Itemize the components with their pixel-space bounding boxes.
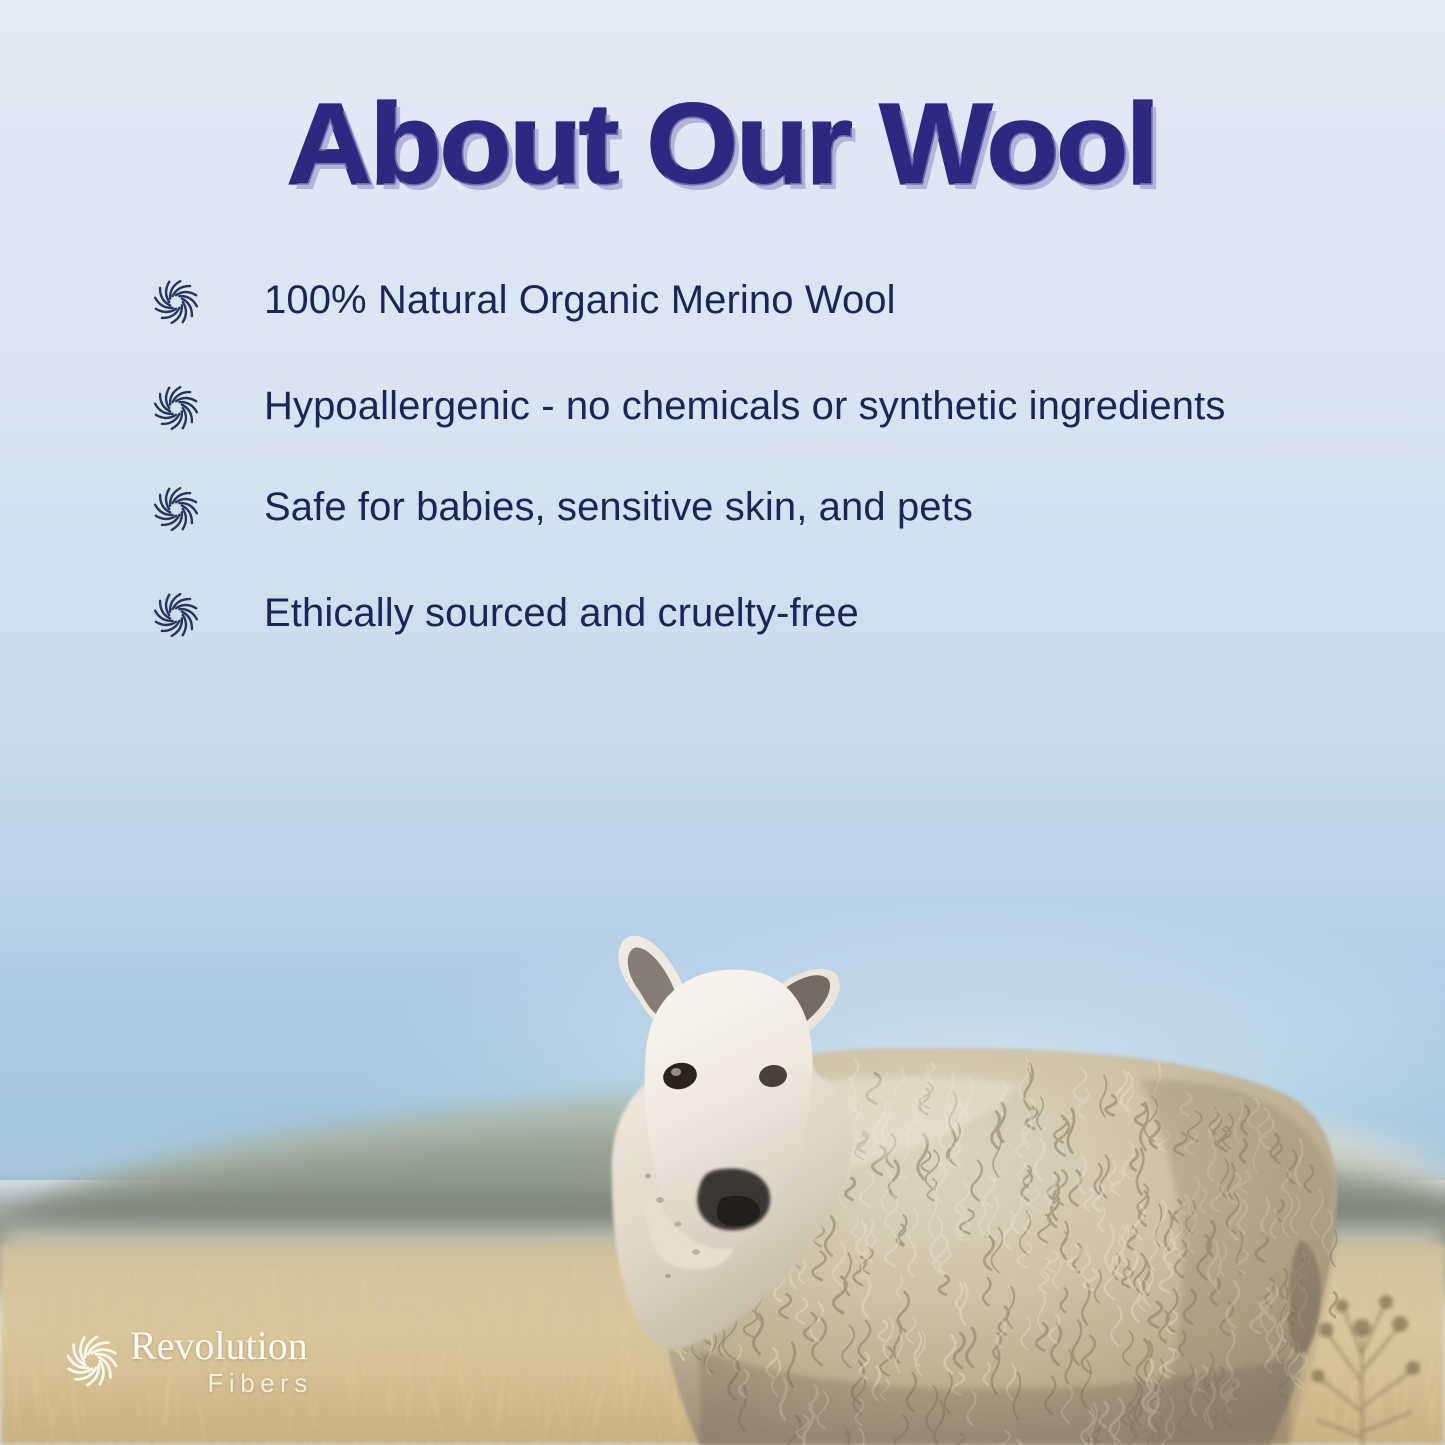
- fiber-swirl-icon: [62, 1331, 122, 1391]
- fiber-swirl-icon: [150, 589, 202, 641]
- fiber-swirl-icon: [150, 382, 202, 434]
- promo-graphic: About Our Wool 100% Natural Organic Meri…: [0, 0, 1445, 1445]
- list-item-label: 100% Natural Organic Merino Wool: [264, 272, 896, 330]
- fiber-swirl-icon: [150, 483, 202, 535]
- list-item: 100% Natural Organic Merino Wool: [150, 272, 1310, 330]
- list-item-label: Ethically sourced and cruelty-free: [264, 585, 859, 643]
- fiber-swirl-icon: [150, 276, 202, 328]
- list-item-label: Safe for babies, sensitive skin, and pet…: [264, 479, 973, 537]
- list-item: Safe for babies, sensitive skin, and pet…: [150, 479, 1310, 537]
- brand-logo: Revolution Fibers: [62, 1326, 308, 1396]
- list-item: Hypoallergenic - no chemicals or synthet…: [150, 378, 1310, 436]
- list-item: Ethically sourced and cruelty-free: [150, 585, 1310, 643]
- page-title: About Our Wool: [0, 88, 1445, 201]
- sheep-photo: [500, 880, 1350, 1445]
- brand-name: Revolution: [130, 1326, 308, 1366]
- brand-wordmark: Revolution Fibers: [130, 1326, 308, 1396]
- feature-list: 100% Natural Organic Merino Wool Hypoall…: [150, 272, 1310, 690]
- list-item-label: Hypoallergenic - no chemicals or synthet…: [264, 378, 1225, 436]
- brand-subname: Fibers: [208, 1370, 313, 1396]
